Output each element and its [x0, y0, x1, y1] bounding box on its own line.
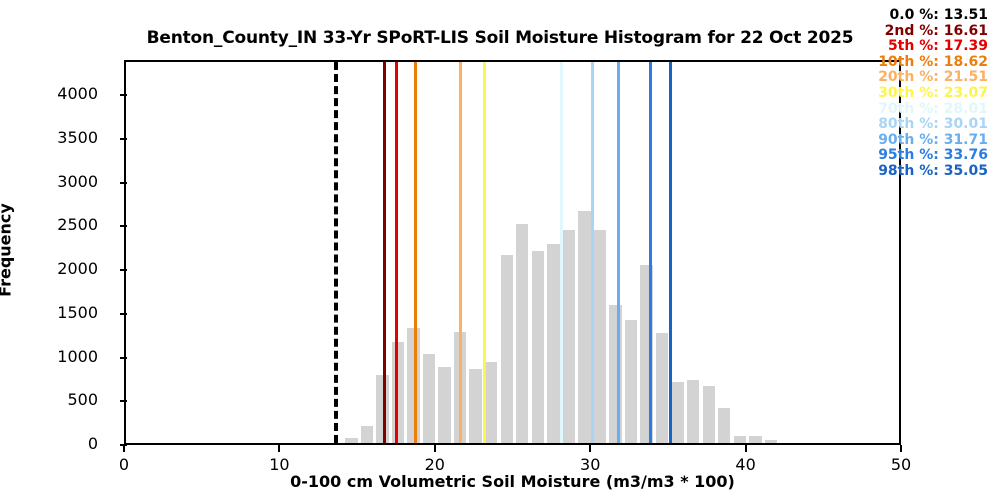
- x-tick-mark: [589, 445, 591, 452]
- y-tick-mark: [120, 138, 127, 140]
- percentile-line-10th: [414, 62, 417, 443]
- y-tick-label: 2500: [57, 215, 98, 234]
- histogram-bar: [578, 211, 590, 443]
- legend-entry-2nd: 2nd %: 16.61: [878, 24, 988, 40]
- y-tick-label: 500: [67, 390, 98, 409]
- legend-entry-10th: 10th %: 18.62: [878, 55, 988, 71]
- y-tick-label: 1000: [57, 347, 98, 366]
- percentile-line-80th: [591, 62, 594, 443]
- histogram-bar: [625, 320, 637, 443]
- plot-area: [124, 60, 901, 445]
- histogram-bar: [547, 244, 559, 444]
- histogram-bar: [438, 367, 450, 443]
- legend-entry-0-0: 0.0 %: 13.51: [878, 8, 988, 24]
- percentile-line-5th: [395, 62, 398, 443]
- histogram-bar: [703, 386, 715, 443]
- y-tick-label: 3000: [57, 172, 98, 191]
- legend-entry-98th: 98th %: 35.05: [878, 164, 988, 180]
- histogram-bar: [594, 230, 606, 444]
- percentile-line-20th: [459, 62, 462, 443]
- histogram-bar: [532, 251, 544, 444]
- chart-title: Benton_County_IN 33-Yr SPoRT-LIS Soil Mo…: [0, 28, 1000, 48]
- y-tick-mark: [120, 225, 127, 227]
- percentile-line-2nd: [383, 62, 386, 443]
- x-axis-label: 0-100 cm Volumetric Soil Moisture (m3/m3…: [124, 472, 901, 491]
- percentile-line-0-0: [334, 62, 338, 443]
- histogram-bar: [392, 342, 404, 443]
- histogram-bar: [501, 255, 513, 443]
- x-tick-mark: [900, 445, 902, 452]
- legend-entry-90th: 90th %: 31.71: [878, 133, 988, 149]
- histogram-bar: [423, 354, 435, 443]
- histogram-bar: [516, 224, 528, 443]
- histogram-bar: [361, 426, 373, 443]
- percentile-line-95th: [649, 62, 652, 443]
- y-tick-mark: [120, 182, 127, 184]
- y-tick-mark: [120, 313, 127, 315]
- histogram-bar: [671, 382, 683, 443]
- legend-entry-30th: 30th %: 23.07: [878, 86, 988, 102]
- y-tick-label: 1500: [57, 303, 98, 322]
- histogram-bar: [765, 440, 777, 443]
- y-tick-label: 2000: [57, 259, 98, 278]
- x-tick-mark: [123, 445, 125, 452]
- histogram-bar: [656, 333, 668, 443]
- histogram-bar: [345, 438, 357, 443]
- y-axis-label: Frequency: [0, 203, 14, 297]
- histogram-bar: [687, 380, 699, 443]
- histogram-bar: [485, 362, 497, 443]
- percentile-line-90th: [617, 62, 620, 443]
- legend-entry-20th: 20th %: 21.51: [878, 70, 988, 86]
- histogram-bar: [563, 230, 575, 443]
- histogram-figure: Benton_County_IN 33-Yr SPoRT-LIS Soil Mo…: [0, 0, 1000, 500]
- legend-entry-70th: 70th %: 28.01: [878, 102, 988, 118]
- histogram-bar: [469, 369, 481, 443]
- y-tick-label: 4000: [57, 84, 98, 103]
- y-tick-mark: [120, 94, 127, 96]
- x-tick-mark: [745, 445, 747, 452]
- legend-entry-5th: 5th %: 17.39: [878, 39, 988, 55]
- histogram-bar: [734, 436, 746, 443]
- y-tick-mark: [120, 357, 127, 359]
- legend-entry-80th: 80th %: 30.01: [878, 117, 988, 133]
- histogram-bar: [749, 436, 761, 443]
- y-tick-mark: [120, 400, 127, 402]
- legend-entry-95th: 95th %: 33.76: [878, 148, 988, 164]
- y-tick-mark: [120, 269, 127, 271]
- x-tick-mark: [434, 445, 436, 452]
- percentile-line-98th: [669, 62, 672, 443]
- percentile-line-30th: [483, 62, 486, 443]
- y-tick-label: 0: [88, 434, 98, 453]
- histogram-bar: [718, 408, 730, 443]
- percentile-legend: 0.0 %: 13.512nd %: 16.615th %: 17.3910th…: [878, 8, 988, 180]
- percentile-line-70th: [560, 62, 563, 443]
- x-tick-mark: [278, 445, 280, 452]
- y-tick-label: 3500: [57, 128, 98, 147]
